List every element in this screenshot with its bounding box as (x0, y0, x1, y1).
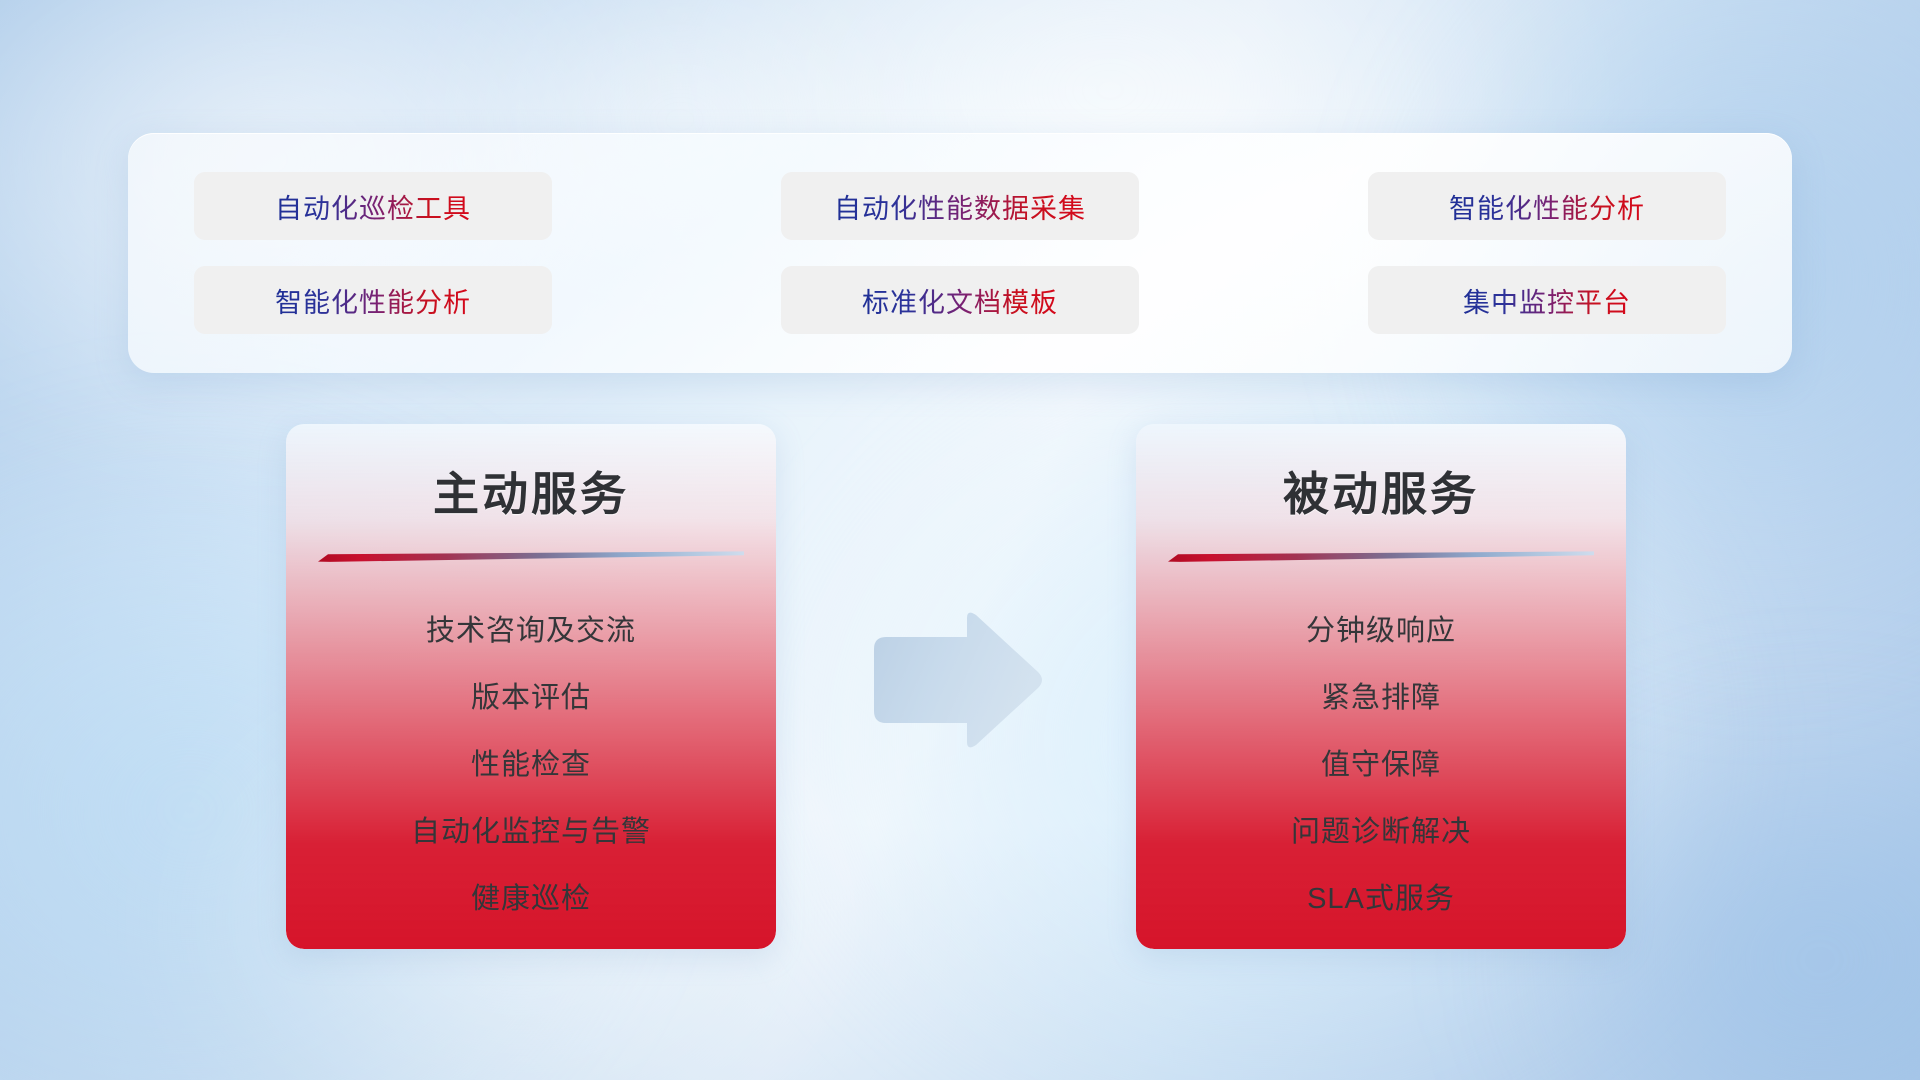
right-arrow-icon (866, 611, 1046, 751)
list-item[interactable]: 分钟级响应 (1306, 603, 1456, 660)
list-item[interactable]: 自动化监控与告警 (411, 804, 651, 861)
list-item[interactable]: SLA式服务 (1307, 871, 1455, 928)
capability-pill[interactable]: 智能化性能分析 (194, 266, 552, 334)
list-item[interactable]: 版本评估 (471, 670, 591, 727)
card-item-list: 分钟级响应 紧急排障 值守保障 问题诊断解决 SLA式服务 (1136, 598, 1626, 933)
list-item[interactable]: 技术咨询及交流 (426, 603, 636, 660)
capability-pill[interactable]: 自动化巡检工具 (194, 172, 552, 240)
capabilities-row: 自动化巡检工具 自动化性能数据采集 智能化性能分析 (194, 172, 1726, 240)
capability-pill-label: 标准化文档模板 (862, 281, 1058, 320)
card-title: 被动服务 (1136, 458, 1626, 524)
card-item-list: 技术咨询及交流 版本评估 性能检查 自动化监控与告警 健康巡检 (286, 598, 776, 933)
capabilities-panel: 自动化巡检工具 自动化性能数据采集 智能化性能分析 智能化性能分析 标准化文档模… (128, 133, 1792, 373)
service-card-proactive[interactable]: 主动服务 技术咨询及交流 版本评估 性能检查 自动化监控与告警 健康巡检 (286, 424, 776, 949)
capability-pill-label: 智能化性能分析 (275, 281, 471, 320)
card-divider (1168, 551, 1594, 562)
list-item[interactable]: 性能检查 (471, 737, 591, 794)
list-item[interactable]: 紧急排障 (1321, 670, 1441, 727)
capability-pill-label: 自动化性能数据采集 (834, 187, 1086, 226)
list-item[interactable]: 问题诊断解决 (1291, 804, 1471, 861)
capability-pill-label: 集中监控平台 (1463, 281, 1631, 320)
capability-pill[interactable]: 集中监控平台 (1368, 266, 1726, 334)
capability-pill[interactable]: 自动化性能数据采集 (781, 172, 1139, 240)
service-card-reactive[interactable]: 被动服务 分钟级响应 紧急排障 值守保障 问题诊断解决 SLA式服务 (1136, 424, 1626, 949)
capability-pill-label: 自动化巡检工具 (275, 187, 471, 226)
capabilities-row: 智能化性能分析 标准化文档模板 集中监控平台 (194, 266, 1726, 334)
card-divider (318, 551, 744, 562)
capability-pill-label: 智能化性能分析 (1449, 187, 1645, 226)
capability-pill[interactable]: 标准化文档模板 (781, 266, 1139, 334)
capability-pill[interactable]: 智能化性能分析 (1368, 172, 1726, 240)
list-item[interactable]: 健康巡检 (471, 871, 591, 928)
card-title: 主动服务 (286, 458, 776, 524)
list-item[interactable]: 值守保障 (1321, 737, 1441, 794)
